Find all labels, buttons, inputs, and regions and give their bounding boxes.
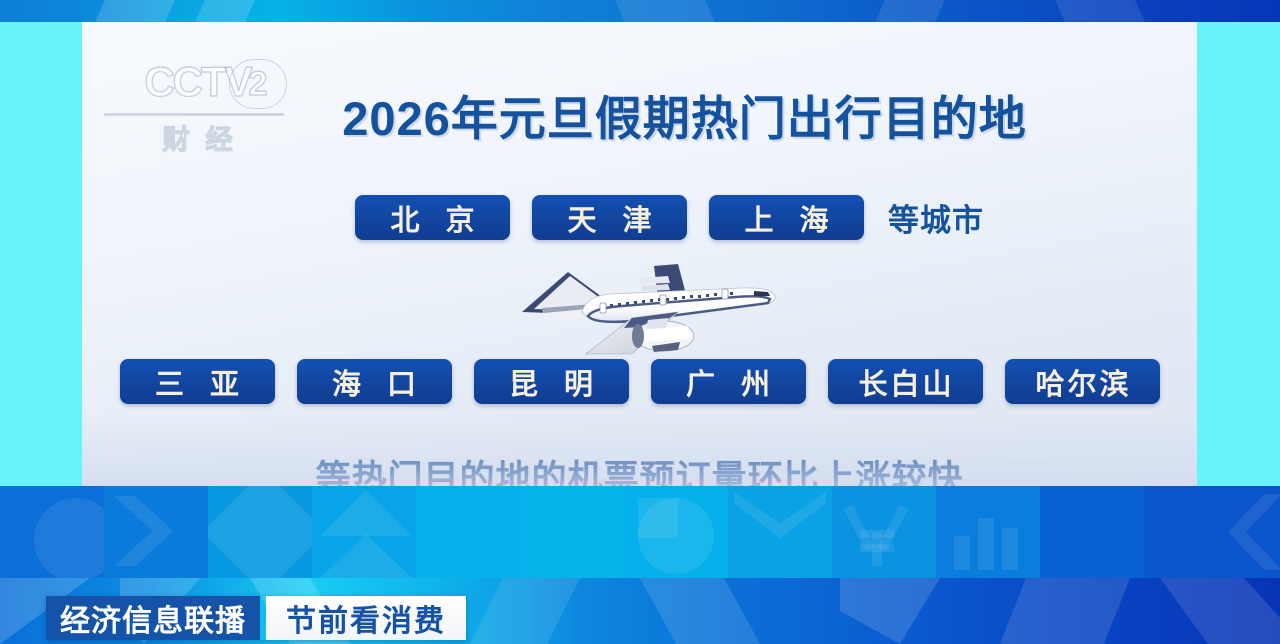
triangle-shape	[320, 534, 412, 578]
deco-cell	[520, 486, 624, 578]
top-bar-shape	[875, 0, 945, 22]
destination-chip[interactable]: 哈尔滨	[1005, 359, 1160, 404]
top-bar-shape	[1055, 0, 1145, 22]
diamond-shape	[208, 486, 312, 578]
top-bar-shape	[615, 0, 715, 22]
pie-slice-shape	[638, 498, 678, 538]
deco-cell	[312, 486, 416, 578]
topic-label: 节前看消费	[266, 596, 466, 640]
deco-cell	[624, 486, 728, 578]
content-panel: CCTV 2 财经 2026年元旦假期热门出行目的地 北 京 天 津 上 海 等…	[82, 22, 1197, 486]
program-name-label: 经济信息联播	[46, 596, 260, 640]
band-shape	[470, 578, 580, 644]
destination-chip[interactable]: 三 亚	[120, 359, 275, 404]
top-bar-shape	[95, 0, 175, 22]
destination-chip[interactable]: 昆 明	[474, 359, 629, 404]
chevron-shape	[114, 496, 184, 566]
decorative-pattern-band	[0, 486, 1280, 578]
top-accent-bar	[0, 0, 1280, 22]
band-shape	[1160, 578, 1280, 644]
destination-chip[interactable]: 广 州	[651, 359, 806, 404]
band-shape	[640, 578, 760, 644]
chevron-down-shape	[734, 492, 826, 542]
page-title: 2026年元旦假期热门出行目的地	[82, 80, 1197, 149]
deco-cell	[416, 486, 520, 578]
triangle-shape	[320, 490, 412, 536]
destination-chip[interactable]: 海 口	[297, 359, 452, 404]
band-shape	[1000, 578, 1130, 644]
bar-chart-shape	[954, 536, 970, 570]
bar-chart-shape	[978, 518, 994, 570]
destination-row-primary: 北 京 天 津 上 海 等城市	[82, 195, 1197, 240]
deco-cell	[1144, 486, 1280, 578]
broadcast-graphic-screen: CCTV 2 财经 2026年元旦假期热门出行目的地 北 京 天 津 上 海 等…	[0, 0, 1280, 644]
caption-text: 等热门目的地的机票预订量环比上涨较快	[82, 450, 1197, 486]
left-cyan-rail	[0, 22, 82, 486]
deco-cell	[936, 486, 1040, 578]
destination-chip[interactable]: 北 京	[355, 195, 510, 240]
deco-cell	[208, 486, 312, 578]
top-bar-shape	[195, 0, 255, 22]
yen-symbol-shape	[872, 532, 882, 566]
deco-cell	[1040, 486, 1144, 578]
airplane-icon	[482, 250, 802, 360]
deco-cell	[728, 486, 832, 578]
destination-chip[interactable]: 上 海	[709, 195, 864, 240]
right-cyan-rail	[1197, 22, 1280, 486]
chevron-shape	[1222, 494, 1280, 570]
deco-cell	[0, 486, 104, 578]
row-one-suffix-text: 等城市	[888, 195, 984, 240]
destination-chip[interactable]: 长白山	[828, 359, 983, 404]
bar-chart-shape	[1002, 528, 1018, 570]
band-shape	[840, 578, 940, 644]
circle-shape	[34, 498, 104, 578]
lower-third-banner: 经济信息联播 节前看消费	[46, 596, 466, 640]
deco-cell	[104, 486, 208, 578]
destination-chip[interactable]: 天 津	[532, 195, 687, 240]
destination-row-secondary: 三 亚 海 口 昆 明 广 州 长白山 哈尔滨	[82, 359, 1197, 404]
deco-cell	[832, 486, 936, 578]
